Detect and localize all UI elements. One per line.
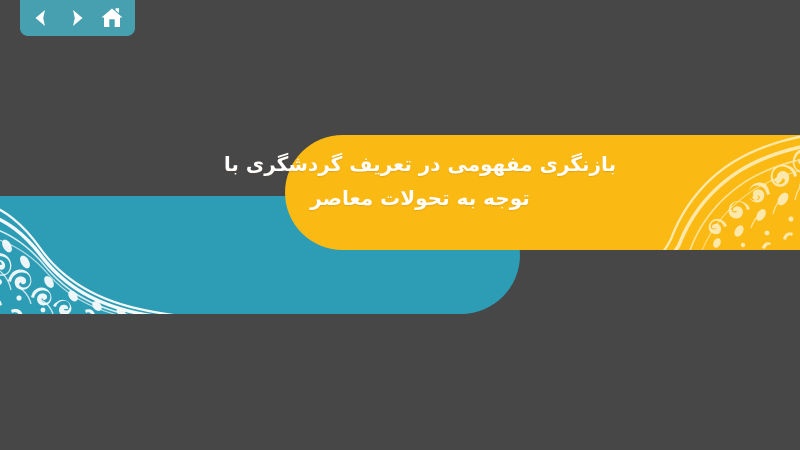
next-slide-button[interactable] [63, 4, 91, 32]
home-icon [100, 7, 124, 29]
navigation-bar [20, 0, 135, 36]
page-title: بازنگری مفهومی در تعریف گردشگری با توجه … [220, 147, 620, 215]
previous-slide-button[interactable] [27, 4, 55, 32]
home-button[interactable] [98, 4, 126, 32]
triangle-left-icon [31, 8, 51, 28]
triangle-right-icon [67, 8, 87, 28]
arabesque-ornament-yellow [655, 135, 800, 250]
title-line-1: بازنگری مفهومی در تعریف گردشگری با [220, 147, 620, 181]
title-line-2: توجه به تحولات معاصر [220, 181, 620, 215]
arabesque-ornament-teal [0, 198, 190, 314]
presentation-slide: بازنگری مفهومی در تعریف گردشگری با توجه … [0, 0, 800, 450]
